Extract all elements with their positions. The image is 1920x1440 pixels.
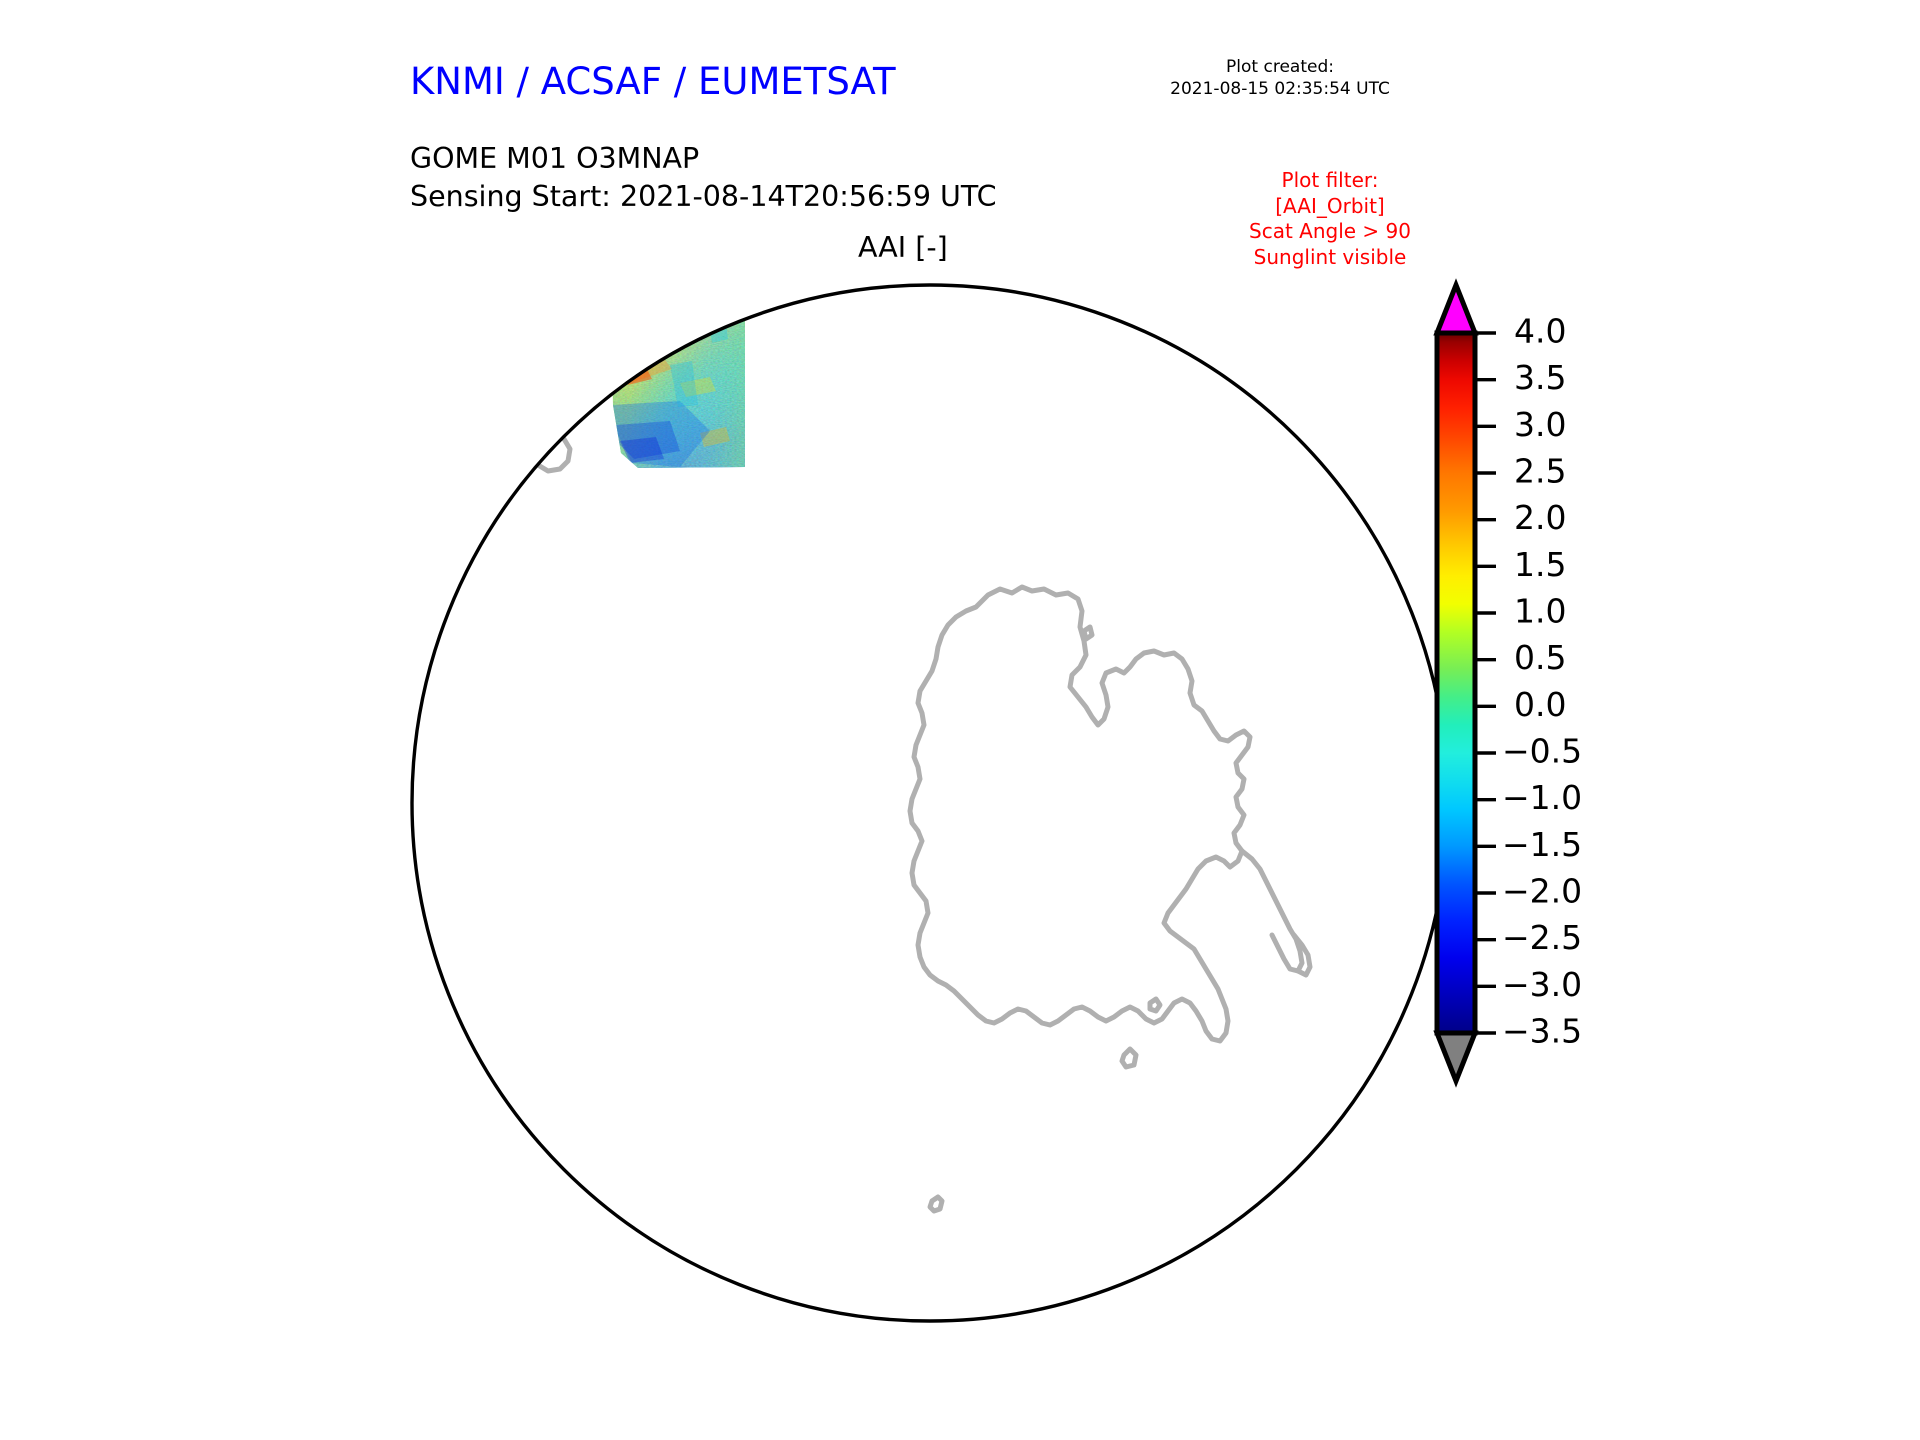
colorbar-tick-label: 1.5 bbox=[1514, 545, 1566, 584]
coastline-falklands bbox=[1290, 1255, 1310, 1275]
plot-filter-line-0: [AAI_Orbit] bbox=[1160, 194, 1500, 220]
colorbar-tick-label: −2.5 bbox=[1502, 918, 1582, 957]
plot-created-block: Plot created: 2021-08-15 02:35:54 UTC bbox=[1100, 56, 1460, 101]
colorbar-tick-label: 2.0 bbox=[1514, 498, 1566, 537]
plot-filter-label: Plot filter: bbox=[1160, 168, 1500, 194]
colorbar-tick-label: −1.5 bbox=[1502, 825, 1582, 864]
colorbar-tick-label: 3.0 bbox=[1514, 405, 1566, 444]
colorbar-tick-label: −3.5 bbox=[1502, 1012, 1582, 1051]
sensing-start: Sensing Start: 2021-08-14T20:56:59 UTC bbox=[410, 178, 997, 216]
colorbar-tick-label: 2.5 bbox=[1514, 452, 1566, 491]
product-name: GOME M01 O3MNAP bbox=[410, 140, 997, 178]
colorbar-gradient-bar bbox=[1437, 333, 1475, 1033]
colorbar-under-arrow bbox=[1437, 1033, 1475, 1081]
colorbar-over-arrow bbox=[1437, 285, 1475, 333]
polar-map bbox=[380, 255, 1490, 1365]
colorbar-tick-label: −2.0 bbox=[1502, 872, 1582, 911]
colorbar-tick-label: −1.0 bbox=[1502, 778, 1582, 817]
colorbar-tick-label: 3.5 bbox=[1514, 358, 1566, 397]
aai-swath-group bbox=[605, 255, 755, 480]
colorbar-tick-label: −0.5 bbox=[1502, 732, 1582, 771]
colorbar-tick-label: −3.0 bbox=[1502, 965, 1582, 1004]
colorbar-tick-label: 0.0 bbox=[1514, 685, 1566, 724]
colorbar-tick-label: 4.0 bbox=[1514, 312, 1566, 351]
colorbar-ticks bbox=[1475, 333, 1496, 1033]
organisation-title: KNMI / ACSAF / EUMETSAT bbox=[410, 60, 896, 103]
coastline-south-america-inner bbox=[1232, 1239, 1266, 1275]
plot-created-label: Plot created: bbox=[1100, 56, 1460, 78]
plot-created-timestamp: 2021-08-15 02:35:54 UTC bbox=[1100, 78, 1460, 100]
colorbar-tick-labels: 4.0 3.5 3.0 2.5 2.0 1.5 1.0 0.5 0.0 −0.5… bbox=[1502, 312, 1582, 1051]
plot-filter-line-1: Scat Angle > 90 bbox=[1160, 219, 1500, 245]
coastline-australia-south bbox=[496, 397, 532, 425]
colorbar: 4.0 3.5 3.0 2.5 2.0 1.5 1.0 0.5 0.0 −0.5… bbox=[1420, 275, 1840, 1345]
product-info-block: GOME M01 O3MNAP Sensing Start: 2021-08-1… bbox=[410, 140, 997, 216]
colorbar-tick-label: 0.5 bbox=[1514, 638, 1566, 677]
colorbar-tick-label: 1.0 bbox=[1514, 592, 1566, 631]
